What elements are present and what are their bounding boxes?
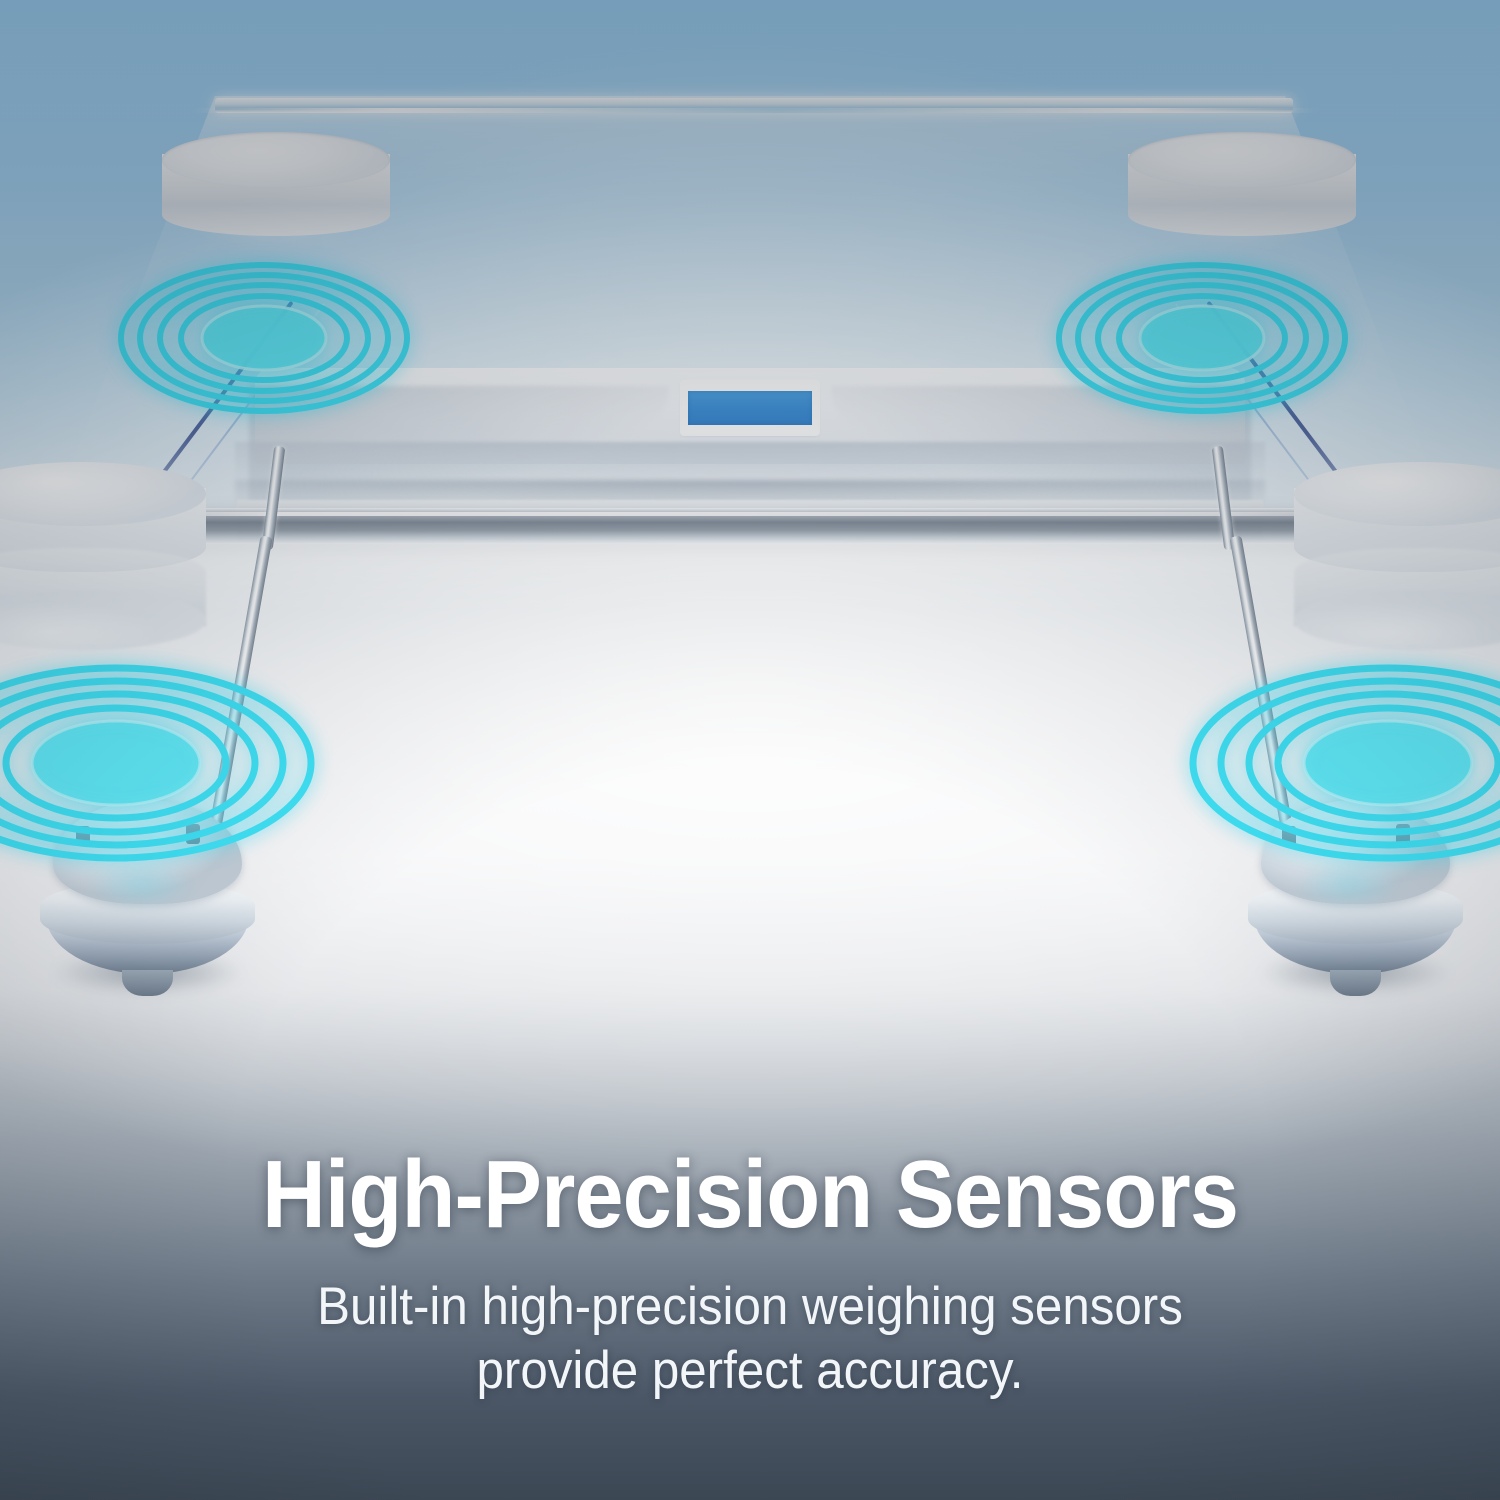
foot-dome-top (1261, 800, 1450, 904)
foot-lower-body (46, 907, 248, 974)
disc-reflection-top (0, 590, 206, 650)
product-feature-image: High-Precision Sensors Built-in high-pre… (0, 0, 1500, 1500)
disc-reflection-left (0, 548, 206, 650)
glass-platform-surface (55, 96, 1445, 506)
scale-body (255, 368, 1245, 533)
puck-top (1128, 132, 1356, 188)
scale-body-top-surface (255, 368, 1245, 464)
disc-reflection-side (0, 548, 206, 626)
puck-side (1128, 154, 1356, 236)
disc-top (1294, 462, 1500, 526)
page-subtitle: Built-in high-precision weighing sensors… (53, 1275, 1448, 1404)
sensor-ripple-icon-bottom-right (1172, 668, 1500, 858)
foot-cyan-tint (1274, 856, 1425, 926)
foot-shadow (14, 941, 281, 1004)
foot-stem (1330, 970, 1382, 996)
glass-underside-glow (0, 544, 1500, 614)
foot-mid-band (1248, 881, 1463, 944)
foot-slot-left (76, 826, 90, 846)
glass-left-edge (110, 301, 294, 543)
foot-slot-left (1282, 826, 1296, 846)
scale-foot-icon-bottom-left (40, 800, 255, 985)
foot-slot-right (1396, 824, 1410, 844)
support-rod-lower-right (1229, 535, 1298, 862)
subtitle-line-1: Built-in high-precision weighing sensors (53, 1275, 1448, 1340)
scale-body-left-curve (249, 386, 669, 536)
glass-left-edge-highlight (125, 303, 325, 568)
caption-block: High-Precision Sensors Built-in high-pre… (0, 1145, 1500, 1404)
glass-right-edge (1206, 301, 1390, 543)
support-rod-lower-left (203, 535, 272, 862)
scale-body-wave-shade-2 (235, 480, 1265, 526)
scale-foot-icon-top-left (162, 132, 390, 236)
foot-shadow (1222, 941, 1489, 1004)
puck-side (162, 154, 390, 236)
support-rod-upper-left (262, 446, 286, 551)
scale-body-right-curve (831, 386, 1251, 536)
scale-foot-icon-bottom-right (1248, 800, 1463, 985)
lcd-display-bezel (682, 382, 818, 434)
scale-body-base (237, 500, 1263, 540)
foot-dome-top (53, 800, 242, 904)
disc-top (0, 462, 206, 526)
scale-foot-icon-mid-right (1294, 462, 1500, 572)
foot-mid-band (40, 881, 255, 944)
foot-stem (122, 970, 174, 996)
disc-reflection-side (1294, 548, 1500, 626)
foot-cyan-tint (66, 856, 217, 926)
disc-reflection-top (1294, 590, 1500, 650)
foot-slot-right (186, 824, 200, 844)
glass-rear-highlight (190, 108, 1320, 113)
scale-foot-icon-top-right (1128, 132, 1356, 236)
support-rod-upper-right (1212, 446, 1236, 551)
lcd-display-icon (688, 391, 812, 425)
glass-right-edge-highlight (1175, 303, 1375, 568)
glass-rear-edge (215, 98, 1293, 113)
foot-lower-body (1254, 907, 1456, 974)
subtitle-line-2: provide perfect accuracy. (53, 1339, 1448, 1404)
puck-glow (121, 115, 431, 271)
scale-foot-icon-mid-left (0, 462, 206, 572)
puck-top (162, 132, 390, 188)
sensor-ripple-icon-top-left (118, 262, 410, 414)
top-glow-overlay (0, 0, 1500, 560)
page-title: High-Precision Sensors (60, 1145, 1440, 1245)
sensor-ripple-icon-bottom-left (0, 668, 332, 858)
disc-reflection-right (1294, 548, 1500, 650)
glass-front-edge-highlight (0, 512, 1500, 516)
puck-glow (1087, 115, 1397, 271)
scale-body-wave-shade (235, 442, 1265, 538)
glass-front-edge (0, 508, 1500, 544)
